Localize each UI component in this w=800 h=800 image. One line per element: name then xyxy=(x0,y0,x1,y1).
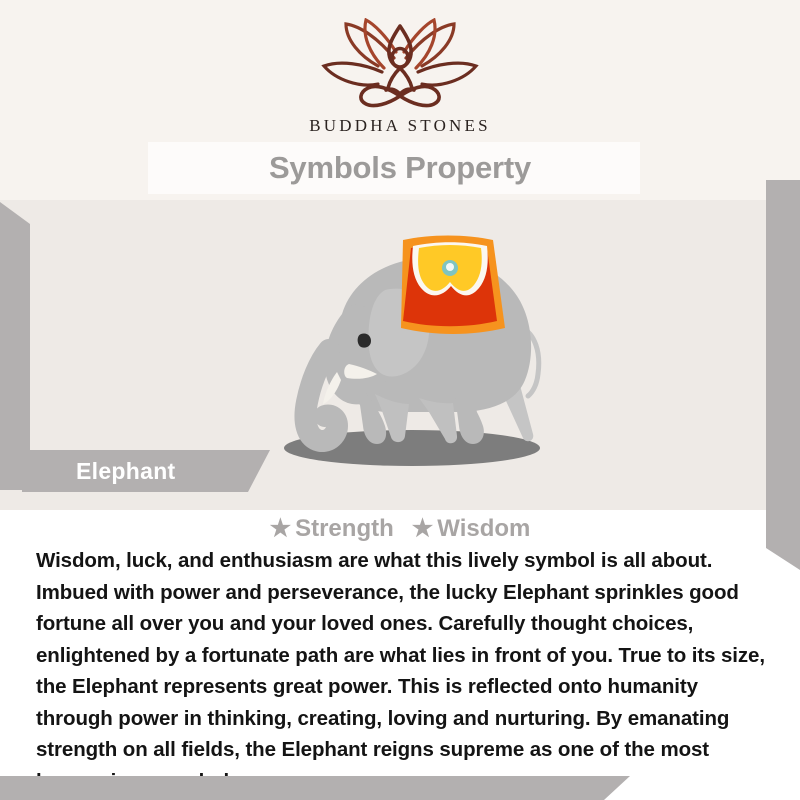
symbol-description: Wisdom, luck, and enthusiasm are what th… xyxy=(36,545,780,797)
left-decorative-rail xyxy=(0,202,30,490)
brand-header: BUDDHA STONES xyxy=(0,18,800,136)
elephant-eye xyxy=(358,333,371,347)
star-icon: ★ xyxy=(270,515,292,542)
right-decorative-rail xyxy=(766,180,800,570)
attribute-strength-label: Strength xyxy=(295,515,394,542)
attributes-row: ★Strength★Wisdom xyxy=(0,514,800,543)
symbols-property-card: BUDDHA STONES Symbols Property xyxy=(0,0,800,800)
saddle-gem-center xyxy=(446,263,454,271)
page-title: Symbols Property xyxy=(0,142,800,194)
elephant-illustration xyxy=(245,222,565,487)
attribute-wisdom-label: Wisdom xyxy=(437,515,530,542)
bottom-decorative-bar xyxy=(0,776,630,800)
lotus-meditation-icon xyxy=(316,18,484,110)
symbol-label: Elephant xyxy=(76,450,176,492)
attribute-wisdom: ★Wisdom xyxy=(412,514,531,543)
attribute-strength: ★Strength xyxy=(270,514,394,543)
star-icon: ★ xyxy=(412,515,434,542)
elephant-saddle xyxy=(401,236,505,335)
brand-name: BUDDHA STONES xyxy=(0,116,800,136)
